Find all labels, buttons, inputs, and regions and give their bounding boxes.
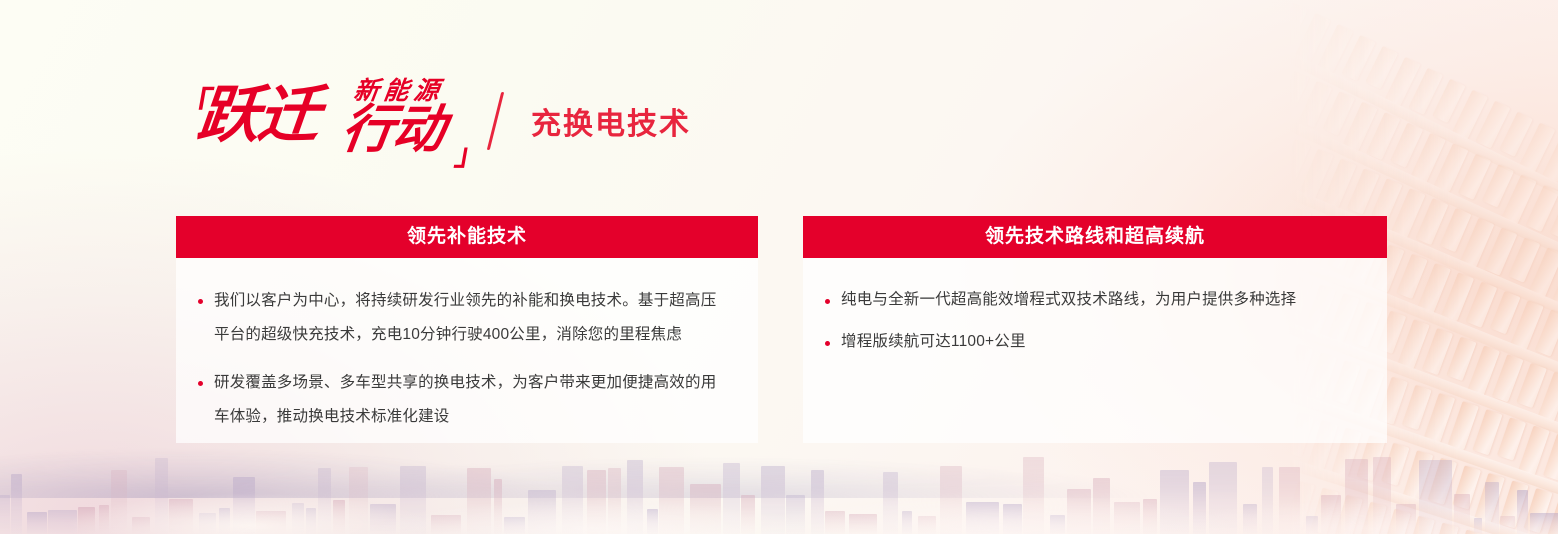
battery-slot	[1526, 185, 1558, 232]
battery-slot	[1518, 425, 1549, 475]
battery-slot	[1407, 516, 1435, 534]
skyline-building	[27, 512, 47, 534]
skyline-building	[1003, 504, 1022, 534]
battery-slot	[1365, 46, 1398, 89]
battery-rack-ledge	[1288, 0, 1558, 233]
skyline-building	[99, 505, 109, 534]
battery-slot	[1385, 57, 1421, 107]
list-item: 我们以客户为中心，将持续研发行业领先的补能和换电技术。基于超高压平台的超级快充技…	[194, 284, 732, 352]
battery-slot	[1429, 523, 1459, 534]
battery-slot	[1516, 363, 1547, 408]
battery-slot	[1347, 168, 1380, 214]
battery-rack-ledge	[1288, 483, 1558, 534]
skyline-building	[723, 463, 740, 534]
battery-slot	[1440, 208, 1472, 252]
skyline-building	[349, 467, 368, 534]
skyline-building	[940, 466, 962, 534]
battery-slot	[1318, 24, 1353, 73]
skyline-building	[1530, 513, 1558, 534]
skyline-light-glow	[0, 464, 1558, 534]
skyline-building	[825, 511, 845, 534]
battery-slot	[1390, 123, 1423, 168]
battery-slot	[1288, 2, 1308, 47]
battery-slot	[1492, 354, 1524, 402]
skyline-building	[1023, 457, 1044, 534]
battery-slot	[1472, 409, 1502, 455]
skyline-building	[1160, 470, 1189, 534]
header-divider	[487, 92, 504, 150]
skyline-building	[562, 466, 583, 534]
battery-slot	[1441, 272, 1474, 321]
battery-slot	[1452, 465, 1481, 509]
battery-slot	[1422, 328, 1453, 375]
list-item-text: 我们以客户为中心，将持续研发行业领先的补能和换电技术。基于超高压平台的超级快充技…	[214, 284, 732, 352]
skyline-building	[647, 509, 658, 534]
skyline-building	[111, 470, 127, 534]
skyline-building	[1143, 499, 1157, 534]
skyline-building	[1209, 462, 1237, 534]
skyline-building	[1345, 459, 1368, 534]
card-leading-tech-route-and-ultra-long-range: 领先技术路线和超高续航 纯电与全新一代超高能效增程式双技术路线，为用户提供多种选…	[803, 216, 1387, 443]
skyline-building	[219, 508, 230, 534]
skyline-building	[918, 516, 936, 534]
battery-slot	[1454, 530, 1483, 534]
battery-slot	[1467, 345, 1500, 396]
battery-slot	[1403, 450, 1433, 500]
list-item: 研发覆盖多场景、多车型共享的换电技术，为客户带来更加便捷高效的用车体验，推动换电…	[194, 366, 732, 434]
battery-slot	[1322, 91, 1355, 135]
skyline-building	[0, 495, 10, 534]
battery-slot	[1545, 496, 1558, 534]
skyline-building	[306, 508, 316, 534]
skyline-building	[902, 511, 912, 534]
skyline-building	[883, 472, 898, 534]
skyline-building	[1279, 467, 1300, 534]
battery-slot	[1294, 13, 1331, 64]
skyline-building	[1306, 516, 1318, 534]
bullet-list: 纯电与全新一代超高能效增程式双技术路线，为用户提供多种选择 增程版续航可达110…	[821, 284, 1361, 358]
battery-slot	[1432, 79, 1465, 123]
battery-slot	[1543, 434, 1558, 481]
battery-slot	[1298, 81, 1332, 128]
battery-slot	[1434, 143, 1469, 192]
battery-slot	[1415, 198, 1448, 245]
battery-slot	[1423, 393, 1455, 445]
battery-slot	[1288, 474, 1291, 517]
battery-rack-row	[1288, 507, 1558, 534]
skyline-building	[849, 514, 877, 534]
battery-slot	[1524, 488, 1553, 533]
skyline-building	[169, 499, 193, 534]
battery-slot	[1335, 495, 1363, 534]
battery-slot	[1475, 101, 1510, 149]
skyline-building	[1396, 504, 1416, 534]
skyline-building	[741, 495, 755, 534]
skyline-building	[966, 502, 999, 534]
logo-main-text: 跃迁	[195, 84, 322, 146]
skyline-building	[494, 479, 502, 534]
bullet-dot-icon	[198, 299, 203, 304]
skyline-building	[786, 495, 805, 534]
quote-close-icon: 「	[453, 136, 488, 166]
skyline-building	[1500, 516, 1515, 534]
battery-slot	[1466, 282, 1498, 328]
skyline-building	[1067, 489, 1091, 534]
battery-slot	[1288, 71, 1309, 121]
battery-rack-row	[1288, 435, 1558, 534]
skyline-building	[1050, 515, 1065, 534]
battery-slot	[1553, 257, 1558, 306]
skyline-building	[155, 458, 168, 534]
battery-slot	[1382, 509, 1411, 534]
battery-slot	[1460, 218, 1495, 269]
battery-slot	[1357, 502, 1387, 534]
battery-slot	[1510, 300, 1543, 350]
battery-slot	[1381, 443, 1409, 486]
skyline-building	[1093, 478, 1110, 534]
battery-slot	[1490, 291, 1521, 334]
skyline-building	[761, 466, 785, 534]
battery-slot	[1508, 237, 1540, 282]
skyline-building	[1321, 495, 1341, 534]
battery-slot	[1408, 68, 1443, 115]
battery-slot	[1310, 488, 1339, 534]
skyline-building	[431, 515, 461, 534]
skyline-building	[659, 467, 684, 534]
list-item: 增程版续航可达1100+公里	[821, 326, 1361, 358]
skyline-building	[1243, 504, 1257, 534]
battery-slot	[1366, 112, 1400, 160]
list-item-text: 增程版续航可达1100+公里	[841, 326, 1361, 358]
skyline-building	[1485, 482, 1499, 534]
skyline-building	[504, 517, 525, 534]
battery-slot	[1428, 458, 1458, 505]
bullet-list: 我们以客户为中心，将持续研发行业领先的补能和换电技术。基于超高压平台的超级快充技…	[194, 284, 732, 434]
battery-rack-row	[1288, 0, 1558, 227]
logo-action-text: 行动	[338, 104, 447, 156]
battery-slot	[1499, 480, 1529, 528]
battery-slot	[1452, 90, 1488, 141]
page-title: 充换电技术	[531, 99, 691, 143]
card-title: 领先技术路线和超高续航	[803, 216, 1387, 258]
bullet-dot-icon	[198, 381, 203, 386]
battery-slot	[1323, 159, 1357, 208]
skyline-building	[1114, 502, 1140, 534]
battery-slot	[1417, 263, 1451, 315]
skyline-building	[1419, 460, 1452, 534]
list-item-text: 纯电与全新一代超高能效增程式双技术路线，为用户提供多种选择	[841, 284, 1361, 316]
battery-slot	[1341, 35, 1375, 81]
battery-slot	[1448, 401, 1479, 450]
skyline-building	[400, 466, 426, 534]
battery-slot	[1497, 417, 1526, 460]
card-title: 领先补能技术	[176, 216, 758, 258]
battery-slot	[1446, 337, 1476, 381]
battery-slot	[1484, 228, 1517, 276]
skyline-building	[1474, 518, 1482, 534]
skyline-building	[318, 468, 331, 534]
battery-slot	[1482, 164, 1514, 207]
skyline-building	[1454, 494, 1470, 534]
battery-slot	[1474, 473, 1505, 524]
skyline-building	[233, 477, 255, 534]
skyline-building	[627, 460, 643, 534]
battery-slot	[1542, 134, 1558, 183]
skyline-hills	[0, 434, 1558, 498]
battery-slot	[1391, 188, 1425, 238]
battery-slot	[1537, 372, 1558, 424]
skyline-building	[333, 500, 345, 534]
battery-slot	[1288, 139, 1311, 184]
skyline-building	[78, 507, 95, 534]
battery-slot	[1288, 481, 1315, 531]
battery-slot	[1519, 123, 1556, 174]
bullet-dot-icon	[825, 299, 830, 304]
skyline-building	[690, 484, 721, 534]
skyline-building	[467, 468, 491, 534]
skyline-building	[1262, 467, 1273, 534]
skyline-building	[608, 468, 621, 534]
battery-slot	[1528, 247, 1558, 299]
banner-stage: 「 跃迁 新能源 行动 「 充换电技术 领先补能技术 我们以客户为中心，将持续研…	[0, 0, 1558, 534]
skyline-building	[370, 504, 396, 534]
list-item: 纯电与全新一代超高能效增程式双技术路线，为用户提供多种选择	[821, 284, 1361, 316]
skyline-building	[1373, 457, 1391, 534]
skyline-building	[48, 510, 77, 534]
skyline-building	[587, 470, 606, 534]
skyline-building	[292, 503, 304, 534]
battery-slot	[1299, 149, 1334, 201]
skyline-building	[811, 470, 824, 534]
battery-slot	[1410, 133, 1446, 185]
campaign-logo: 「 跃迁 新能源 行动 「	[176, 78, 486, 164]
brand-header: 「 跃迁 新能源 行动 「 充换电技术	[176, 78, 691, 164]
battery-slot	[1342, 102, 1377, 153]
battery-slot	[1396, 254, 1427, 299]
battery-slot	[1535, 309, 1558, 356]
card-leading-replenishment-technology: 领先补能技术 我们以客户为中心，将持续研发行业领先的补能和换电技术。基于超高压平…	[176, 216, 758, 443]
battery-slot	[1397, 319, 1429, 369]
list-item-text: 研发覆盖多场景、多车型共享的换电技术，为客户带来更加便捷高效的用车体验，推动换电…	[214, 366, 732, 434]
battery-slot	[1402, 385, 1432, 430]
skyline-building	[256, 511, 286, 534]
battery-slot	[1499, 112, 1533, 157]
skyline-building	[199, 513, 216, 534]
skyline-building	[528, 490, 556, 534]
battery-slot	[1458, 154, 1491, 200]
skyline-building	[1193, 482, 1206, 534]
skyline-building	[11, 474, 22, 534]
skyline-building	[1517, 490, 1528, 534]
battery-slot	[1502, 175, 1537, 225]
skyline-building	[132, 517, 150, 534]
card-body: 我们以客户为中心，将持续研发行业领先的补能和换电技术。基于超高压平台的超级快充技…	[176, 258, 758, 443]
card-body: 纯电与全新一代超高能效增程式双技术路线，为用户提供多种选择 增程版续航可达110…	[803, 258, 1387, 443]
bullet-dot-icon	[825, 341, 830, 346]
battery-slot	[1550, 195, 1558, 239]
